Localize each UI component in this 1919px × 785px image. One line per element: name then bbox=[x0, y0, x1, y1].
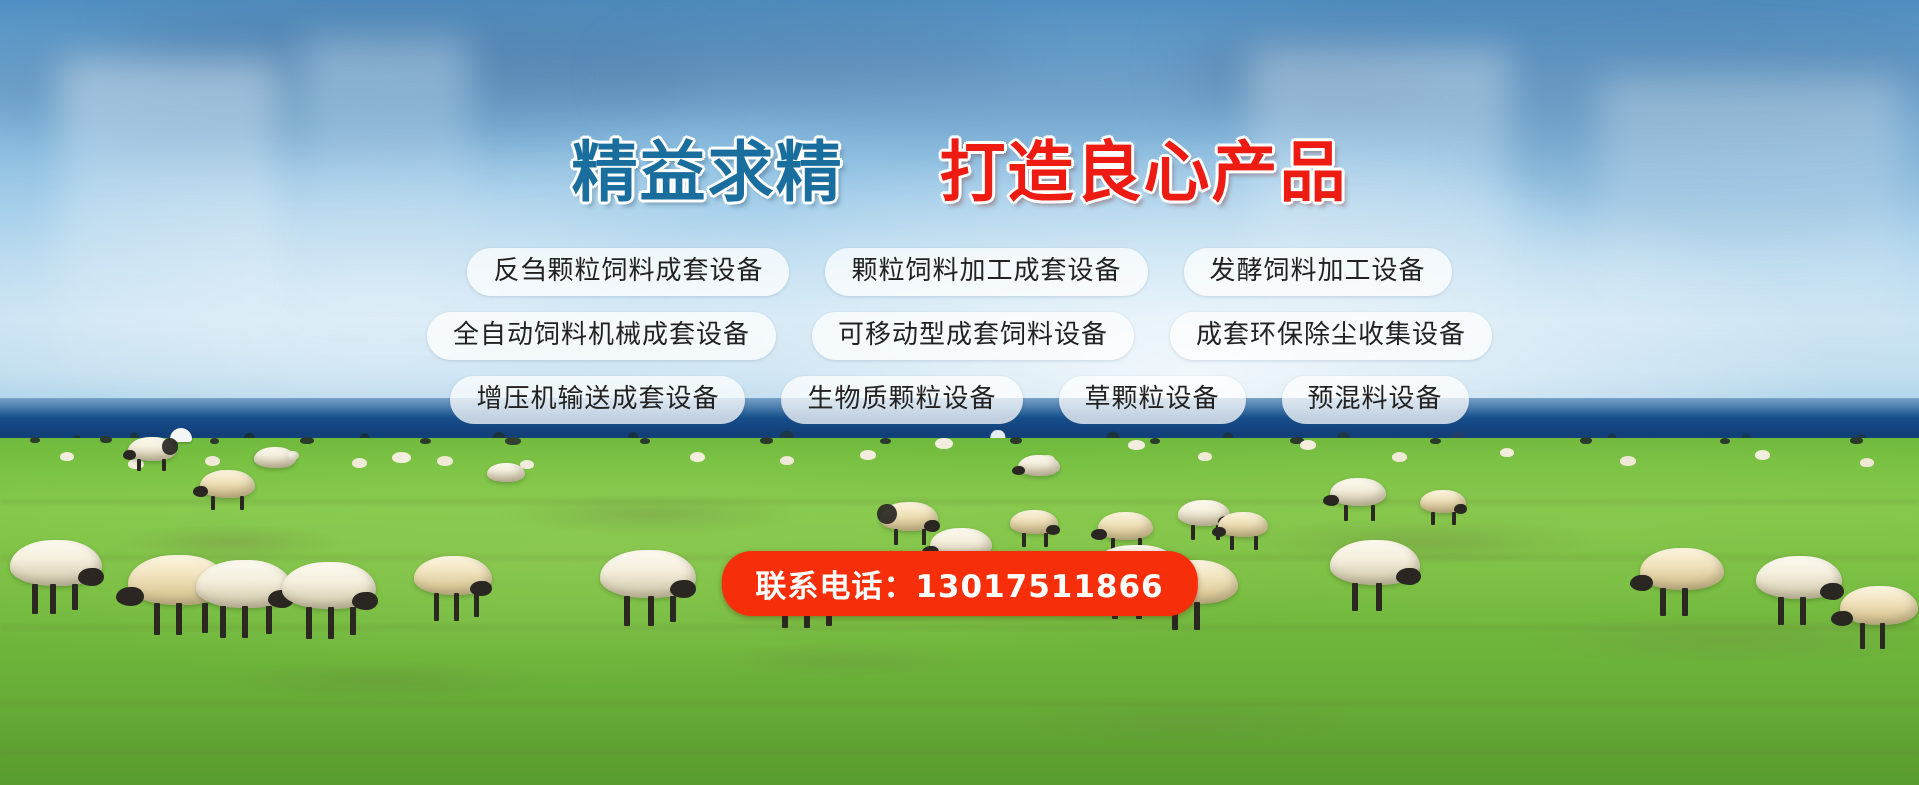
product-pill[interactable]: 草颗粒设备 bbox=[1059, 376, 1246, 424]
product-pill[interactable]: 成套环保除尘收集设备 bbox=[1170, 312, 1492, 360]
product-pill[interactable]: 颗粒饲料加工成套设备 bbox=[825, 248, 1147, 296]
product-pill[interactable]: 生物质颗粒设备 bbox=[781, 376, 1022, 424]
product-pill[interactable]: 全自动饲料机械成套设备 bbox=[427, 312, 776, 360]
banner-content: 精益求精 打造良心产品 反刍颗粒饲料成套设备 颗粒饲料加工成套设备 发酵饲料加工… bbox=[0, 0, 1919, 785]
product-pill-row: 反刍颗粒饲料成套设备 颗粒饲料加工成套设备 发酵饲料加工设备 bbox=[0, 248, 1919, 296]
contact-phone-button[interactable]: 联系电话：13017511866 bbox=[721, 551, 1197, 616]
product-pill-list: 反刍颗粒饲料成套设备 颗粒饲料加工成套设备 发酵饲料加工设备 全自动饲料机械成套… bbox=[0, 248, 1919, 440]
product-pill[interactable]: 增压机输送成套设备 bbox=[450, 376, 745, 424]
product-pill-row: 全自动饲料机械成套设备 可移动型成套饲料设备 成套环保除尘收集设备 bbox=[0, 312, 1919, 360]
product-pill-row: 增压机输送成套设备 生物质颗粒设备 草颗粒设备 预混料设备 bbox=[0, 376, 1919, 424]
product-pill[interactable]: 预混料设备 bbox=[1282, 376, 1469, 424]
promo-banner: 精益求精 打造良心产品 反刍颗粒饲料成套设备 颗粒饲料加工成套设备 发酵饲料加工… bbox=[0, 0, 1919, 785]
product-pill[interactable]: 发酵饲料加工设备 bbox=[1184, 248, 1452, 296]
page-title: 精益求精 打造良心产品 bbox=[0, 140, 1919, 206]
headline-primary: 精益求精 bbox=[572, 140, 844, 206]
product-pill[interactable]: 可移动型成套饲料设备 bbox=[812, 312, 1134, 360]
headline-secondary: 打造良心产品 bbox=[939, 140, 1347, 206]
product-pill[interactable]: 反刍颗粒饲料成套设备 bbox=[467, 248, 789, 296]
